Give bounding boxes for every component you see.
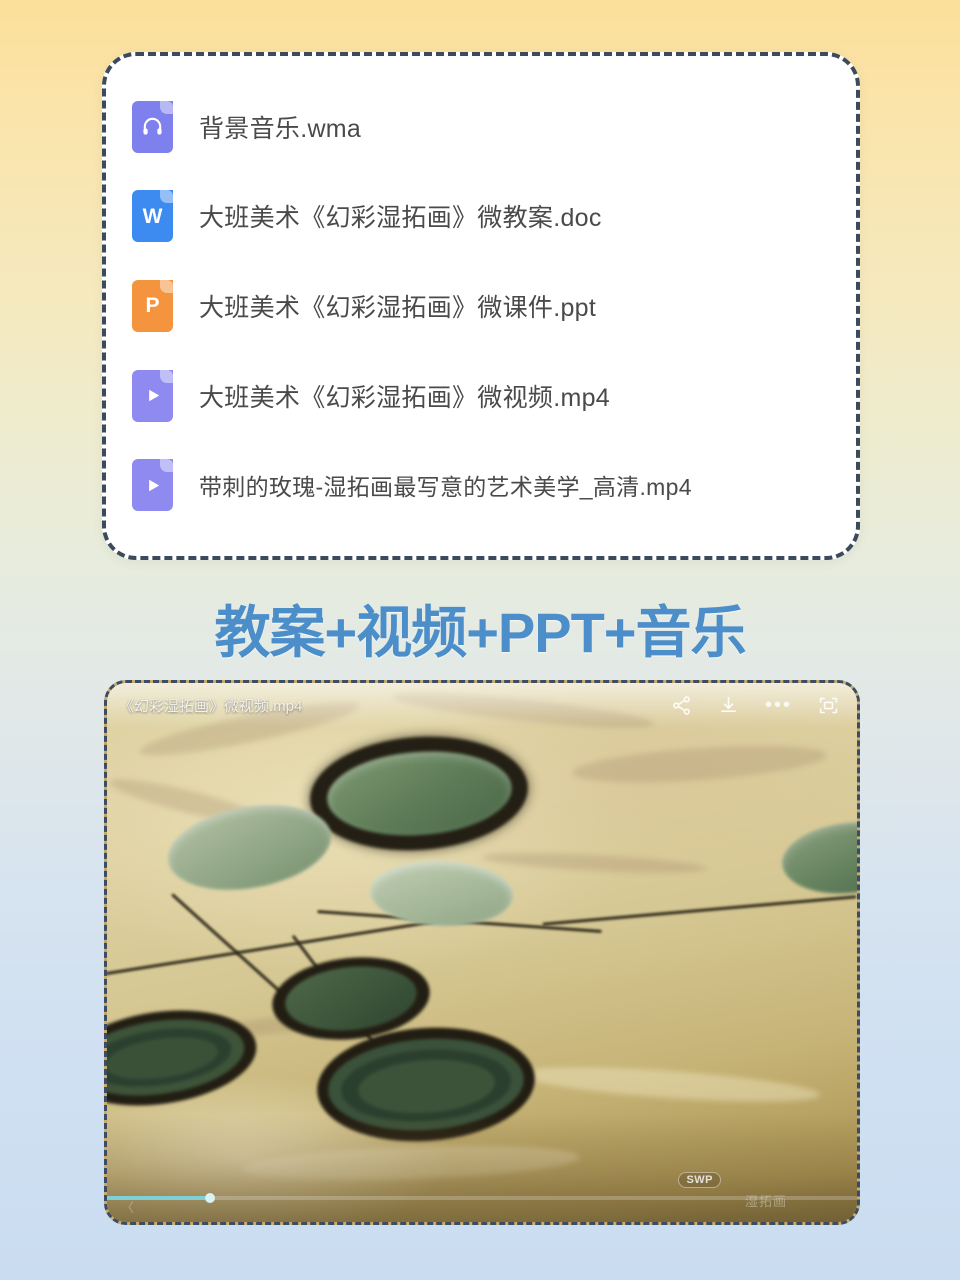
- file-name: 大班美术《幻彩湿拓画》微视频.mp4: [199, 378, 610, 414]
- screenshot-icon[interactable]: [818, 695, 839, 716]
- file-name: 带刺的玫瑰-湿拓画最写意的艺术美学_高清.mp4: [199, 468, 692, 502]
- file-name: 大班美术《幻彩湿拓画》微教案.doc: [199, 198, 602, 234]
- list-item[interactable]: P 大班美术《幻彩湿拓画》微课件.ppt: [106, 269, 856, 343]
- video-actions: •••: [671, 695, 839, 716]
- headphone-icon: [132, 101, 173, 153]
- play-icon: [132, 459, 173, 511]
- video-player[interactable]: 《幻彩湿拓画》微视频.mp4 •••: [104, 680, 860, 1225]
- video-title: 《幻彩湿拓画》微视频.mp4: [119, 695, 671, 716]
- download-icon[interactable]: [718, 695, 739, 716]
- marbling-artwork-image: [107, 683, 857, 1222]
- list-item[interactable]: 大班美术《幻彩湿拓画》微视频.mp4: [106, 359, 856, 433]
- list-item[interactable]: 背景音乐.wma: [106, 90, 856, 164]
- list-item[interactable]: 带刺的玫瑰-湿拓画最写意的艺术美学_高清.mp4: [106, 448, 856, 522]
- video-left-caption: 〈: [121, 1197, 134, 1216]
- video-subcaption: 湿拓画: [745, 1191, 787, 1210]
- file-name: 大班美术《幻彩湿拓画》微课件.ppt: [199, 288, 596, 324]
- share-icon[interactable]: [671, 695, 692, 716]
- list-item[interactable]: W 大班美术《幻彩湿拓画》微教案.doc: [106, 179, 856, 253]
- file-list-card: 背景音乐.wma W 大班美术《幻彩湿拓画》微教案.doc P 大班美术《幻彩湿…: [102, 52, 860, 560]
- play-icon: [132, 370, 173, 422]
- watermark-badge: SWP: [678, 1172, 721, 1188]
- word-doc-icon: W: [132, 190, 173, 242]
- video-topbar: 《幻彩湿拓画》微视频.mp4 •••: [107, 683, 857, 727]
- powerpoint-icon: P: [132, 280, 173, 332]
- more-icon[interactable]: •••: [765, 700, 792, 710]
- page-title: 教案+视频+PPT+音乐: [0, 588, 960, 669]
- file-name: 背景音乐.wma: [199, 109, 361, 145]
